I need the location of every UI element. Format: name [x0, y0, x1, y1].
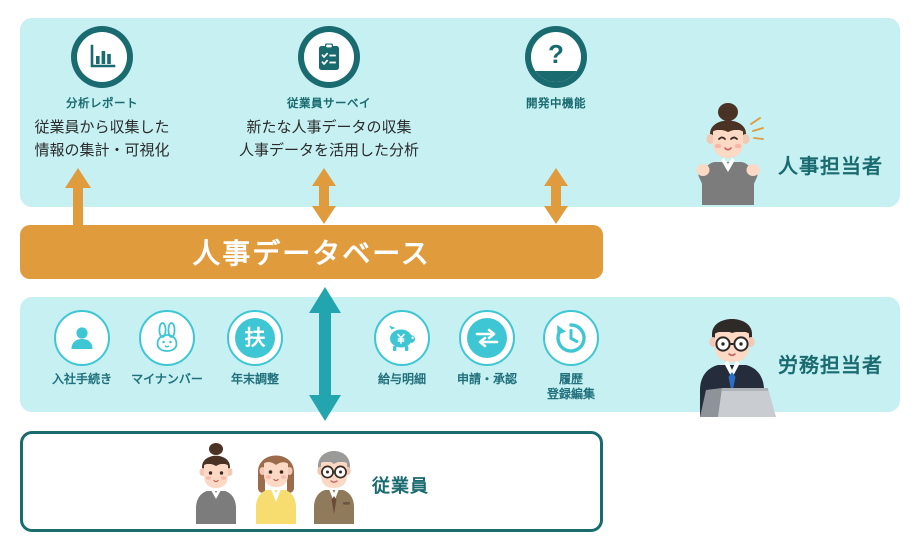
rabbit-icon [139, 310, 195, 366]
feature-desc-line2: 情報の集計・可視化 [22, 140, 182, 163]
labor-manager-avatar [688, 302, 784, 417]
employee-box-label: 従業員 [372, 472, 429, 498]
function-label: 申請・承認 [444, 372, 530, 387]
question-mark-icon: ? [525, 26, 587, 88]
function-payslip[interactable]: 給与明細 [359, 310, 445, 387]
fu-kanji-icon: 扶 [227, 310, 283, 366]
feature-employee-survey[interactable]: 従業員サーベイ 新たな人事データの収集 人事データを活用した分析 [232, 26, 426, 162]
hr-manager-avatar [688, 100, 768, 205]
function-label-line1: 年末調整 [212, 372, 298, 387]
function-label: 入社手続き [39, 372, 125, 387]
bar-chart-icon [71, 26, 133, 88]
arrow-dev-both [540, 166, 572, 231]
feature-label: 開発中機能 [498, 95, 614, 111]
function-label: マイナンバー [124, 372, 210, 387]
feature-analysis-report[interactable]: 分析レポート 従業員から収集した 情報の集計・可視化 [22, 26, 182, 162]
function-my-number[interactable]: マイナンバー [124, 310, 210, 387]
arrow-db-employee [306, 285, 344, 428]
user-person-icon [54, 310, 110, 366]
arrow-report-up [62, 166, 94, 231]
employee-man-senior-avatar [307, 438, 361, 524]
feature-description: 従業員から収集した 情報の集計・可視化 [22, 117, 182, 162]
feature-label: 従業員サーベイ [232, 95, 426, 111]
labor-manager-role-label: 労務担当者 [778, 349, 883, 378]
function-label-line1: マイナンバー [124, 372, 210, 387]
hr-manager-role-label: 人事担当者 [778, 150, 883, 179]
function-label-line1: 履歴 [528, 372, 614, 387]
feature-desc-line1: 新たな人事データの収集 [232, 117, 426, 140]
hr-database-label: 人事データベース [192, 232, 431, 272]
function-label: 年末調整 [212, 372, 298, 387]
clipboard-check-icon [298, 26, 360, 88]
feature-description: 新たな人事データの収集 人事データを活用した分析 [232, 117, 426, 162]
function-label: 履歴 登録編集 [528, 372, 614, 402]
feature-desc-line2: 人事データを活用した分析 [232, 140, 426, 163]
feature-label: 分析レポート [22, 95, 182, 111]
employee-woman-yellow-avatar [249, 440, 303, 524]
function-label-line1: 申請・承認 [444, 372, 530, 387]
function-application-approval[interactable]: 申請・承認 [444, 310, 530, 387]
function-label: 給与明細 [359, 372, 445, 387]
employee-woman-gray-avatar [190, 442, 242, 524]
feature-in-development[interactable]: ? 開発中機能 [498, 26, 614, 111]
feature-desc-line1: 従業員から収集した [22, 117, 182, 140]
arrow-survey-both [308, 166, 340, 231]
function-year-end-adjustment[interactable]: 扶 年末調整 [212, 310, 298, 387]
diagram-canvas: 分析レポート 従業員から収集した 情報の集計・可視化 従業員サーベイ [0, 0, 922, 548]
function-label-line1: 給与明細 [359, 372, 445, 387]
piggy-bank-yen-icon [374, 310, 430, 366]
exchange-arrows-icon [459, 310, 515, 366]
clock-history-icon [543, 310, 599, 366]
function-history-edit[interactable]: 履歴 登録編集 [528, 310, 614, 402]
function-onboarding[interactable]: 入社手続き [39, 310, 125, 387]
hr-database-bar[interactable]: 人事データベース [20, 225, 603, 279]
function-label-line2: 登録編集 [528, 387, 614, 402]
function-label-line1: 入社手続き [39, 372, 125, 387]
